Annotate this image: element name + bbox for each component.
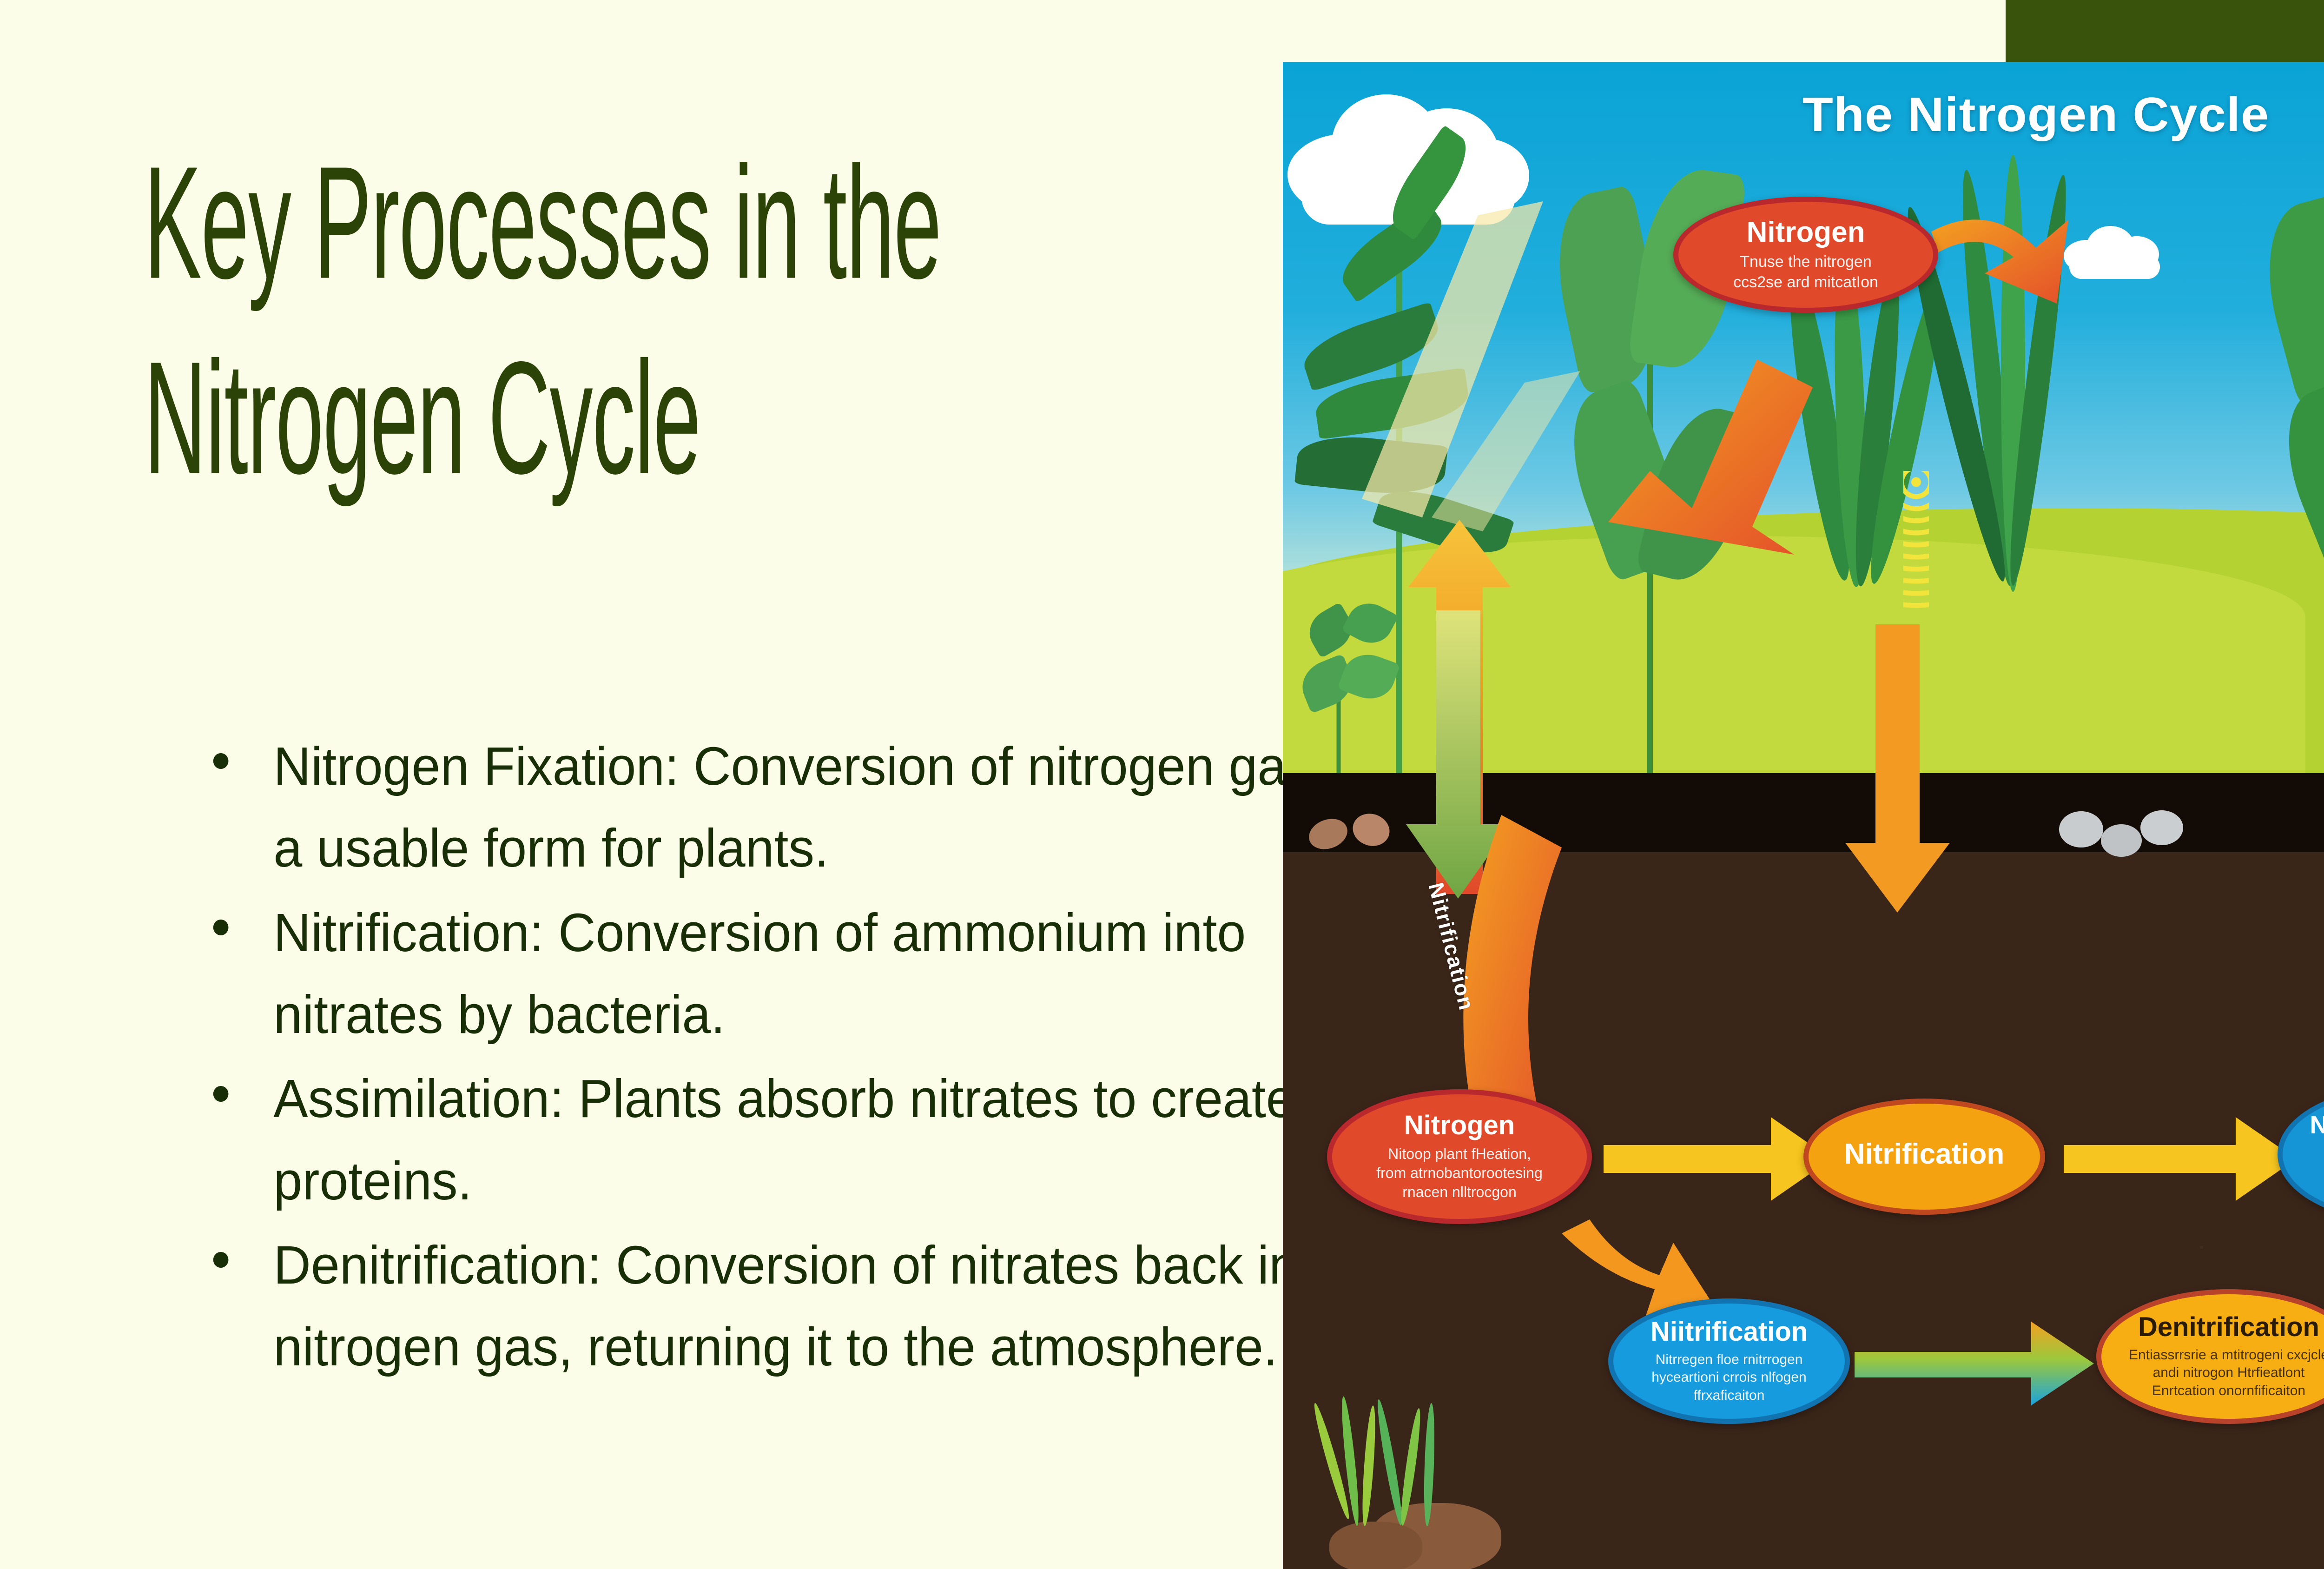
bullet-dot-icon (213, 1086, 229, 1102)
list-item: Denitrification: Conversion of nitrates … (200, 1224, 1413, 1388)
vegetation-layer (1283, 62, 2324, 880)
node-title: Nitrogen (1747, 217, 1865, 247)
accent-band-top-right (2006, 0, 2324, 62)
node-subtitle: Entiassrrsrie a mtitrogeni cxcjcle andi … (2129, 1346, 2324, 1400)
bullet-dot-icon (213, 1252, 229, 1268)
node-nitrogen-top: Nitrogen Tnuse the nitrogen ccs2se ard m… (1673, 197, 1938, 313)
list-item: Nitrification: Conversion of ammonium in… (200, 892, 1413, 1056)
bullet-list: Nitrogen Fixation: Conversion of nitroge… (200, 725, 1464, 1390)
nitrogen-cycle-infographic: The Nitrogen Cycle Nitrogen Tnuse the ni… (1283, 62, 2324, 1569)
list-item-text: Assimilation: Plants absorb nitrates to … (273, 1068, 1294, 1211)
node-title: Nitrogen Cycle (2310, 1112, 2324, 1139)
node-subtitle: Nitoop plant fHeation, from atrnobantoro… (1376, 1145, 1543, 1202)
list-item-text: Nitrification: Conversion of ammonium in… (273, 902, 1246, 1045)
node-subtitle: Tnuse the nitrogen ccs2se ard mitcatIon (1733, 252, 1878, 292)
list-item: Assimilation: Plants absorb nitrates to … (200, 1058, 1413, 1222)
list-item-text: Denitrification: Conversion of nitrates … (273, 1235, 1340, 1377)
soil-detail-layer (1283, 759, 2324, 880)
grass-clump-bottom-left (1301, 1396, 1497, 1569)
node-nitrogen-soil: Nitrogen Nitoop plant fHeation, from atr… (1327, 1089, 1592, 1224)
slide-canvas: Key Processes in the Nitrogen Cycle Nitr… (0, 0, 2324, 1569)
node-subtitle: Nitrregen floe rnitrrogen hyceartioni cr… (1651, 1351, 1807, 1404)
node-title: Nitrification (1844, 1139, 2004, 1169)
list-item-text: Nitrogen Fixation: Conversion of nitroge… (273, 736, 1410, 878)
node-title: Nitrogen (1404, 1112, 1515, 1140)
bullet-dot-icon (213, 753, 229, 769)
node-nitrification-bottom: Niitrification Nitrregen floe rnitrrogen… (1608, 1298, 1850, 1424)
node-title: Denitrification (2138, 1313, 2319, 1342)
page-title: Key Processes in the Nitrogen Cycle (144, 126, 1136, 516)
list-item: Nitrogen Fixation: Conversion of nitroge… (200, 725, 1413, 889)
infographic-title: The Nitrogen Cycle (1283, 87, 2324, 143)
node-nitrification-center: Nitrification (1803, 1099, 2045, 1215)
node-title: Niitrification (1651, 1318, 1808, 1346)
bullet-dot-icon (213, 920, 229, 935)
